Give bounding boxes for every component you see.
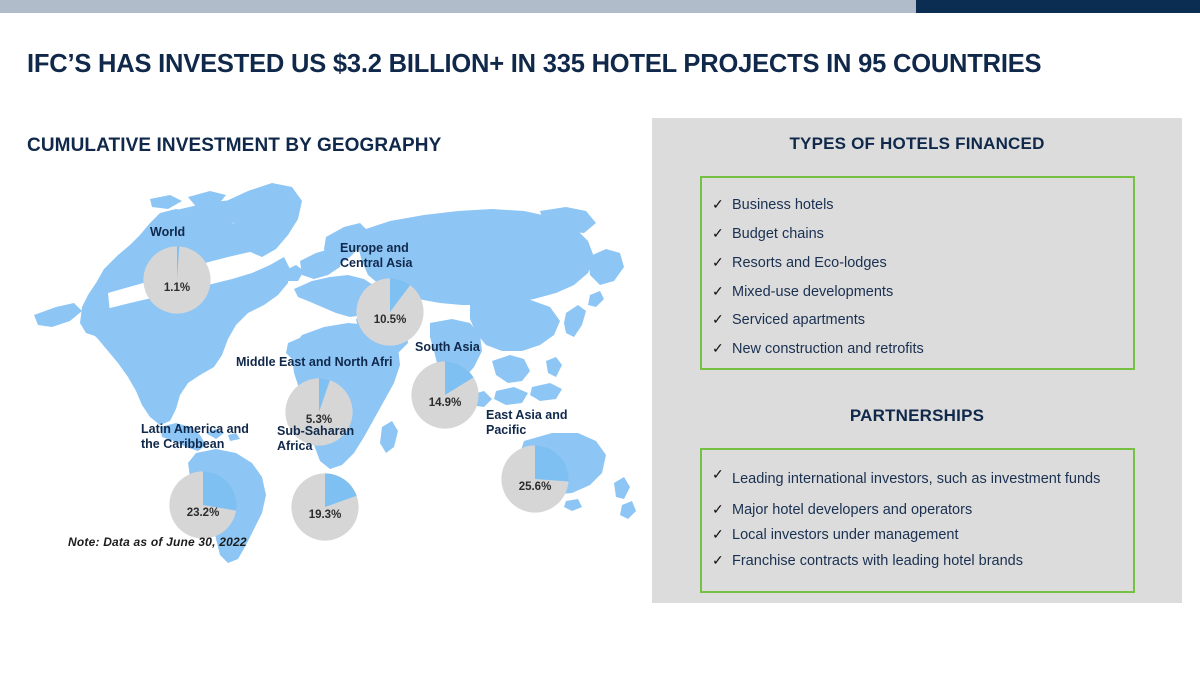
pie-south-asia-chart <box>410 360 480 430</box>
top-decorative-bar <box>0 0 1200 13</box>
check-icon: ✓ <box>710 501 732 519</box>
list-item[interactable]: ✓ Major hotel developers and operators <box>710 501 1123 520</box>
partnerships-box: ✓ Leading international investors, such … <box>700 448 1135 593</box>
check-icon: ✓ <box>710 196 732 214</box>
pie-europe-central-asia-label-line2: Central Asia <box>340 256 412 271</box>
check-icon: ✓ <box>710 283 732 301</box>
map-section: CUMULATIVE INVESTMENT BY GEOGRAPHY <box>0 120 650 620</box>
list-item-label: Serviced apartments <box>732 311 865 330</box>
pie-east-asia-pacific-label-line1: East Asia and <box>486 408 568 423</box>
list-item[interactable]: ✓ Resorts and Eco-lodges <box>710 254 1123 273</box>
pie-europe-central-asia-value: 10.5% <box>355 314 425 326</box>
check-icon: ✓ <box>710 526 732 544</box>
list-item-label: Franchise contracts with leading hotel b… <box>732 552 1023 571</box>
list-item[interactable]: ✓ Franchise contracts with leading hotel… <box>710 552 1123 571</box>
map-section-heading: CUMULATIVE INVESTMENT BY GEOGRAPHY <box>27 135 441 157</box>
pie-south-asia-label-line1: South Asia <box>415 340 480 355</box>
pie-east-asia-pacific-label-line2: Pacific <box>486 423 526 438</box>
pie-latin-america-caribbean-label-line2: the Caribbean <box>141 437 224 452</box>
pie-south-asia-value: 14.9% <box>410 397 480 409</box>
list-item[interactable]: ✓ Serviced apartments <box>710 311 1123 330</box>
pie-world-label-line1: World <box>150 225 185 240</box>
list-item-label: Local investors under management <box>732 526 959 545</box>
list-item[interactable]: ✓ Leading international investors, such … <box>710 466 1123 494</box>
pie-latin-america-caribbean-chart <box>168 470 238 540</box>
partnerships-heading: PARTNERSHIPS <box>652 406 1182 426</box>
list-item[interactable]: ✓ Business hotels <box>710 196 1123 215</box>
list-item-label: Mixed-use developments <box>732 283 893 302</box>
pie-sub-saharan-africa-value: 19.3% <box>290 509 360 521</box>
right-info-panel: TYPES OF HOTELS FINANCED ✓ Business hote… <box>652 118 1182 603</box>
list-item[interactable]: ✓ Local investors under management <box>710 526 1123 545</box>
pie-europe-central-asia-label-line1: Europe and <box>340 241 409 256</box>
pie-world-value: 1.1% <box>142 282 212 294</box>
check-icon: ✓ <box>710 311 732 329</box>
pie-latin-america-caribbean-value: 23.2% <box>168 507 238 519</box>
list-item-label: New construction and retrofits <box>732 340 924 359</box>
topbar-grey-segment <box>0 0 916 13</box>
check-icon: ✓ <box>710 225 732 243</box>
list-item[interactable]: ✓ Mixed-use developments <box>710 283 1123 302</box>
pie-sub-saharan-africa-label-line2: Africa <box>277 439 312 454</box>
list-item-label: Major hotel developers and operators <box>732 501 972 520</box>
pie-east-asia-pacific-value: 25.6% <box>500 481 570 493</box>
pie-sub-saharan-africa-label-line1: Sub-Saharan <box>277 424 354 439</box>
map-data-note: Note: Data as of June 30, 2022 <box>68 535 247 549</box>
types-of-hotels-heading: TYPES OF HOTELS FINANCED <box>652 134 1182 154</box>
list-item-label: Business hotels <box>732 196 834 215</box>
check-icon: ✓ <box>710 254 732 272</box>
check-icon: ✓ <box>710 466 732 484</box>
check-icon: ✓ <box>710 340 732 358</box>
types-of-hotels-box: ✓ Business hotels ✓ Budget chains ✓ Reso… <box>700 176 1135 370</box>
pie-east-asia-pacific-chart <box>500 444 570 514</box>
pie-middle-east-north-africa-label-line1: Middle East and North Afri <box>236 355 393 370</box>
list-item-label: Resorts and Eco-lodges <box>732 254 887 273</box>
list-item-label: Budget chains <box>732 225 824 244</box>
pie-latin-america-caribbean-label-line1: Latin America and <box>141 422 249 437</box>
pie-sub-saharan-africa-chart <box>290 472 360 542</box>
topbar-navy-segment <box>916 0 1200 13</box>
list-item[interactable]: ✓ New construction and retrofits <box>710 340 1123 359</box>
list-item[interactable]: ✓ Budget chains <box>710 225 1123 244</box>
list-item-label: Leading international investors, such as… <box>732 466 1120 494</box>
page-title: IFC’S HAS INVESTED US $3.2 BILLION+ IN 3… <box>27 50 1177 79</box>
pie-world-chart <box>142 245 212 315</box>
pie-europe-central-asia-chart <box>355 277 425 347</box>
check-icon: ✓ <box>710 552 732 570</box>
footer: IFC International Finance Corporation WO… <box>0 600 1200 673</box>
